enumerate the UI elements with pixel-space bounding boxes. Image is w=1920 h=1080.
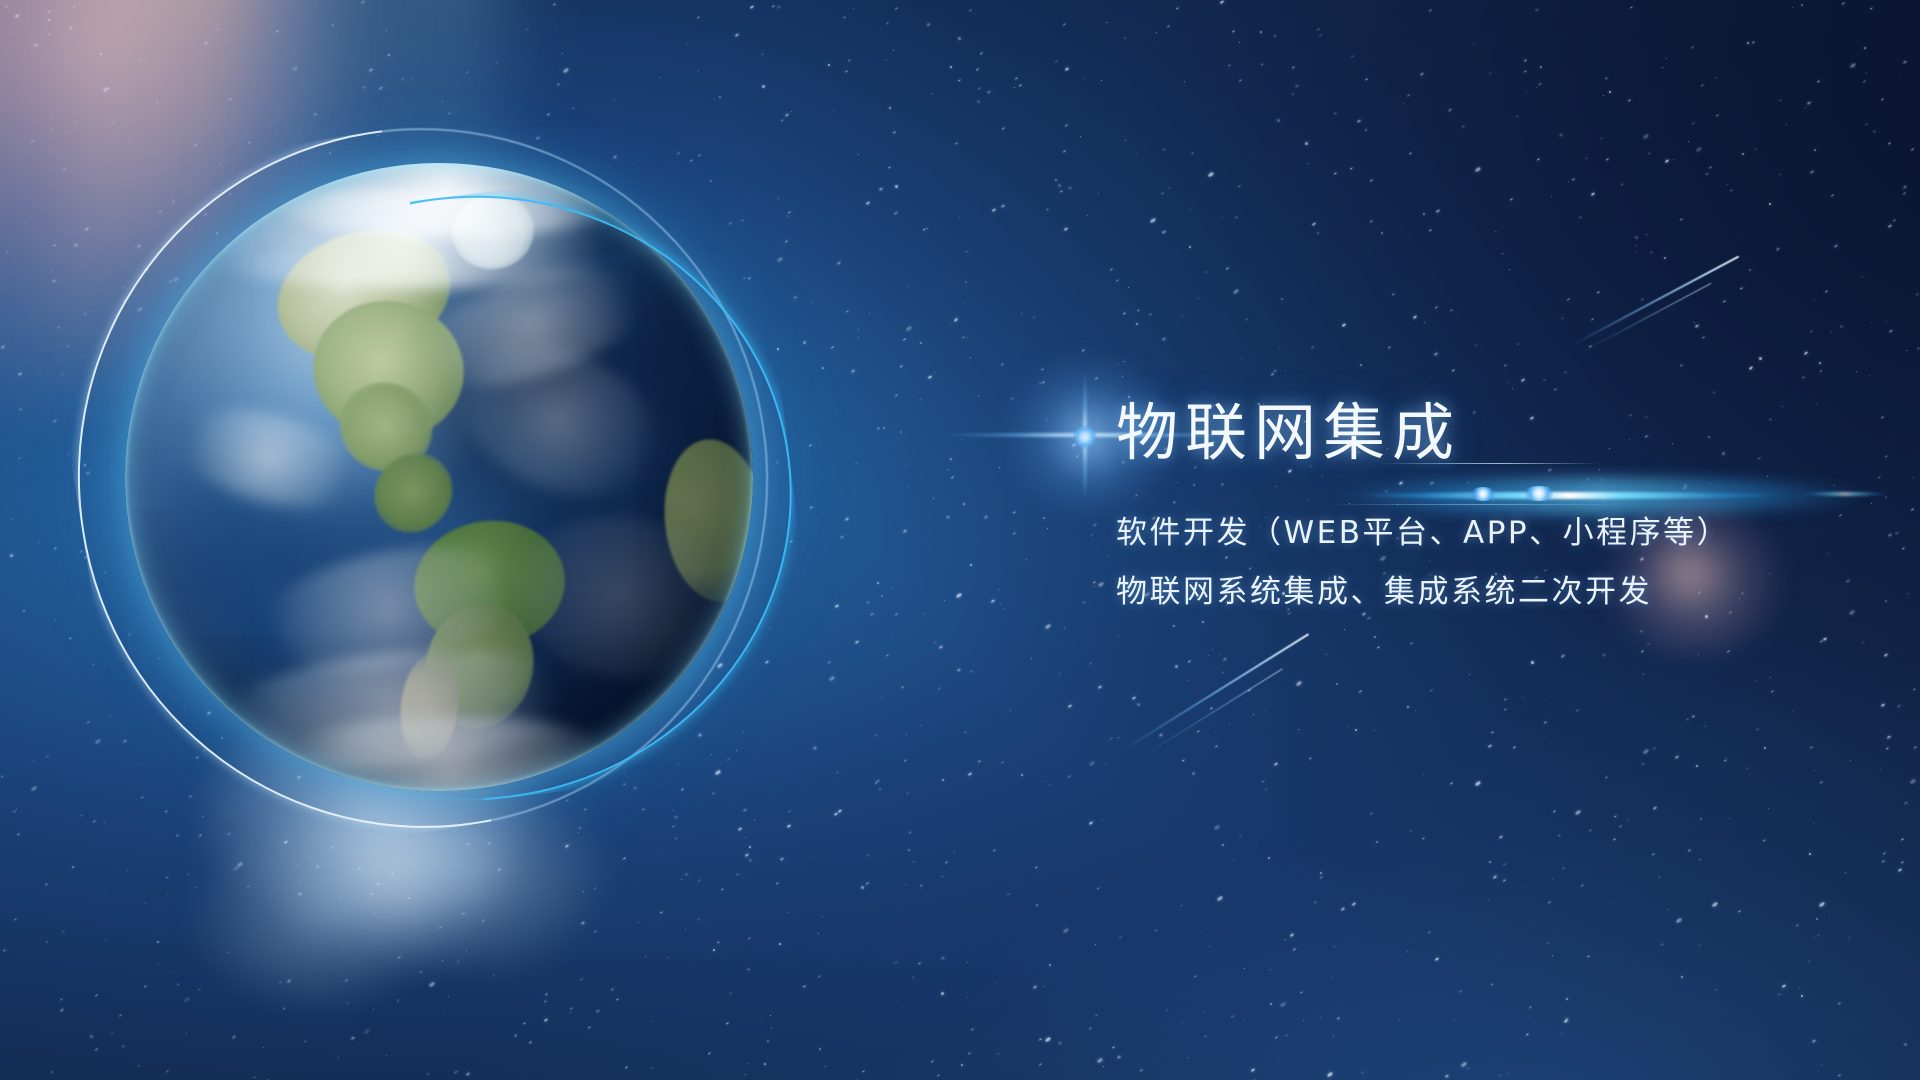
subtitle-line-2: 物联网系统集成、集成系统二次开发 — [1116, 577, 1876, 608]
banner-scene: 物联网集成 软件开发（WEB平台、APP、小程序等） 物联网系统集成、集成系统二… — [0, 0, 1920, 1080]
page-title: 物联网集成 — [1116, 400, 1876, 467]
banner-text-block: 物联网集成 软件开发（WEB平台、APP、小程序等） 物联网系统集成、集成系统二… — [1116, 400, 1876, 608]
earth-globe — [125, 163, 753, 791]
globe-rim-light — [125, 163, 753, 791]
subtitle-line-1: 软件开发（WEB平台、APP、小程序等） — [1116, 518, 1876, 549]
globe-sphere — [125, 163, 753, 791]
